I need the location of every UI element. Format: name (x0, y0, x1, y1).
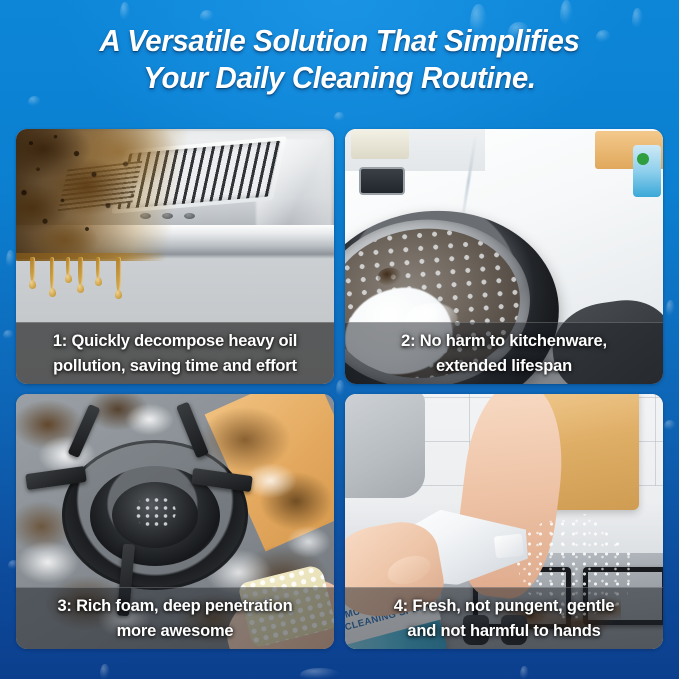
product-bottle-background (633, 145, 661, 197)
feature-panel-grid: 1: Quickly decompose heavy oil pollution… (16, 129, 663, 663)
caption-line-1: 2: No harm to kitchenware, (401, 329, 607, 354)
oil-drip (78, 257, 83, 287)
panel-4-caption: 4: Fresh, not pungent, gentle and not ha… (345, 587, 663, 649)
caption-line-2: more awesome (117, 619, 234, 644)
panel-2-caption: 2: No harm to kitchenware, extended life… (345, 322, 663, 384)
water-drop-icon (560, 0, 573, 24)
feature-panel-1: 1: Quickly decompose heavy oil pollution… (16, 129, 334, 384)
headline-line-2: Your Daily Cleaning Routine. (17, 59, 662, 96)
burner-cap (112, 482, 198, 548)
oil-drip (66, 257, 70, 277)
oil-drip (30, 257, 35, 283)
oil-edge (16, 253, 166, 261)
water-drop-icon (6, 250, 15, 267)
water-drop-icon (520, 666, 529, 679)
caption-line-1: 3: Rich foam, deep penetration (57, 594, 292, 619)
caption-line-2: and not harmful to hands (407, 619, 600, 644)
oil-drip (50, 257, 54, 291)
caption-line-1: 1: Quickly decompose heavy oil (53, 329, 297, 354)
panel-1-caption: 1: Quickly decompose heavy oil pollution… (16, 322, 334, 384)
caption-line-1: 4: Fresh, not pungent, gentle (394, 594, 615, 619)
water-drop-icon (334, 112, 345, 121)
person-shirt (345, 394, 425, 498)
caption-line-2: extended lifespan (436, 354, 572, 379)
panel-3-caption: 3: Rich foam, deep penetration more awes… (16, 587, 334, 649)
water-drop-icon (28, 96, 41, 106)
spray-nozzle (494, 534, 524, 559)
page-title: A Versatile Solution That Simplifies You… (17, 22, 662, 96)
headline-line-1: A Versatile Solution That Simplifies (17, 22, 662, 59)
oil-drip (116, 257, 121, 293)
oil-drip (96, 257, 100, 280)
water-drop-icon (200, 10, 214, 21)
water-drop-icon (666, 300, 675, 316)
grease-speckle-overlay (16, 129, 185, 255)
cabinet-handle-icon (359, 167, 405, 195)
water-drop-icon (3, 330, 14, 339)
water-drop-icon (100, 664, 110, 679)
water-drop-icon (120, 2, 130, 20)
sponge-on-counter (351, 129, 409, 159)
caption-line-2: pollution, saving time and effort (53, 354, 297, 379)
water-drop-icon (300, 668, 340, 679)
feature-panel-4: MULTI-PURPOSE CLEANING SPRAY 4: Fresh, n… (345, 394, 663, 649)
water-drop-icon (664, 420, 676, 430)
feature-panel-2: 2: No harm to kitchenware, extended life… (345, 129, 663, 384)
feature-panel-3: 3: Rich foam, deep penetration more awes… (16, 394, 334, 649)
